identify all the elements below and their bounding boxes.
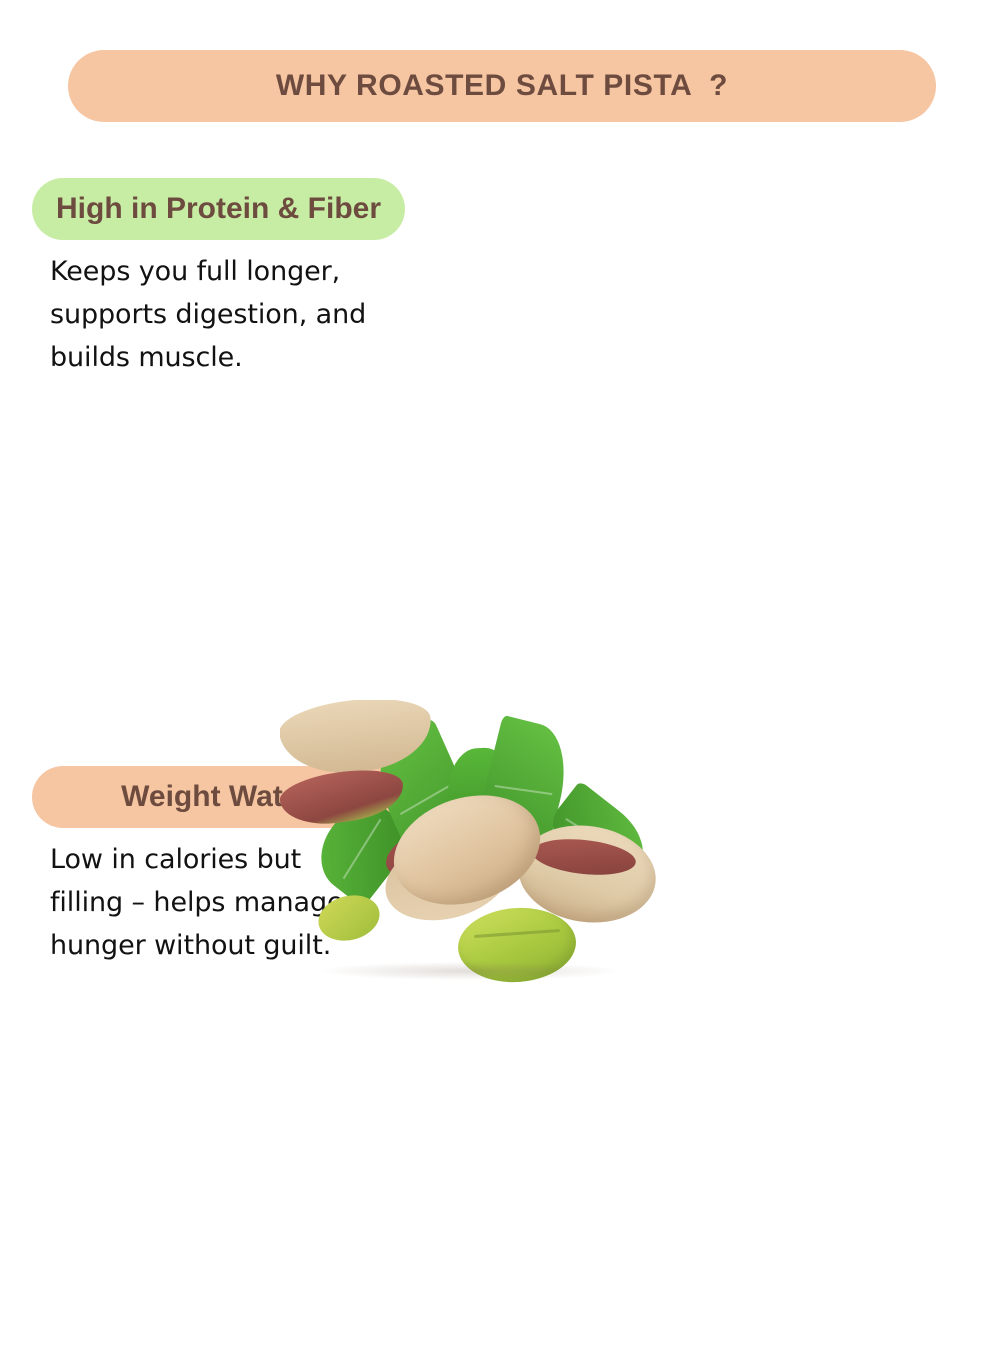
- photo-stage: [280, 700, 710, 1000]
- infographic-root: WHY ROASTED SALT PISTA ? High in Protein…: [0, 0, 1000, 1000]
- page-title: WHY ROASTED SALT PISTA ?: [276, 69, 728, 103]
- benefit-body-protein-fiber: Keeps you full longer, supports digestio…: [50, 250, 510, 379]
- pill-row: Eye & Brain Health: [520, 178, 1000, 240]
- benefit-block-eye-brain: Eye & Brain Health Contains vitamin E, l…: [520, 178, 1000, 766]
- pill-row: High in Protein & Fiber: [0, 178, 510, 240]
- photo-shadow: [320, 962, 620, 980]
- pistachio-photo: [280, 700, 710, 1000]
- pistachio-kernel-green-small: [314, 889, 385, 947]
- benefit-title-protein-fiber: High in Protein & Fiber: [56, 194, 381, 224]
- benefit-pill-protein-fiber: High in Protein & Fiber: [32, 178, 405, 240]
- header-banner: WHY ROASTED SALT PISTA ?: [68, 50, 936, 122]
- benefit-block-protein-fiber: High in Protein & Fiber Keeps you full l…: [0, 178, 520, 766]
